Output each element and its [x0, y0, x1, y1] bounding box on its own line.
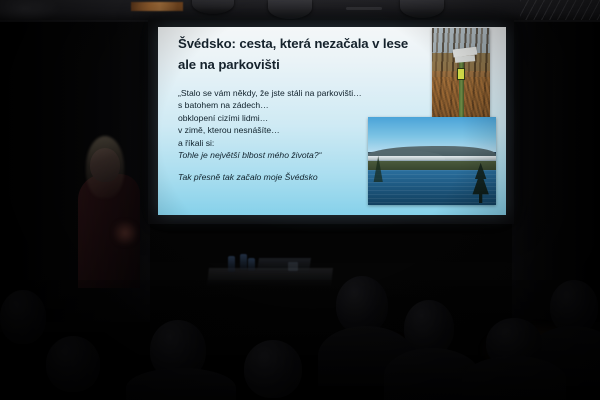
- audience-shoulders: [462, 356, 566, 400]
- forest-photo-post: [459, 57, 464, 118]
- ceiling-rail: [520, 0, 600, 22]
- ceiling-speaker-icon: [192, 0, 234, 14]
- water-bottle: [228, 256, 235, 272]
- cup: [288, 262, 298, 271]
- lake-landscape-photo: [368, 117, 496, 205]
- presenter-arm: [112, 220, 138, 246]
- right-dark-wall: [512, 22, 600, 322]
- water-bottle: [240, 254, 247, 270]
- audience-shoulders: [126, 368, 236, 400]
- slide-body-line: s batohem na zádech…: [178, 99, 418, 111]
- laptop: [257, 258, 311, 272]
- ceiling-slot-light-icon: [346, 7, 382, 10]
- water-bottle: [248, 258, 255, 271]
- audience-head: [0, 290, 46, 344]
- audience-head: [46, 336, 100, 392]
- ceiling-speaker-icon: [268, 0, 312, 19]
- audience-head: [244, 340, 302, 398]
- presentation-slide: Švédsko: cesta, která nezačala v lese al…: [158, 27, 506, 215]
- lecture-hall-scene: Švédsko: cesta, která nezačala v lese al…: [0, 0, 600, 400]
- forest-trail-signpost-photo: [432, 28, 490, 118]
- presenter-hair: [86, 136, 124, 198]
- ceiling-ambient-glow: [0, 0, 60, 22]
- slide-body-line: „Stalo se vám někdy, že jste stáli na pa…: [178, 87, 418, 99]
- presenter-silhouette: [70, 128, 146, 288]
- warm-light-panel-icon: [131, 2, 183, 11]
- ceiling-speaker-icon: [400, 0, 444, 18]
- forest-photo-trail-marker-box: [457, 68, 465, 81]
